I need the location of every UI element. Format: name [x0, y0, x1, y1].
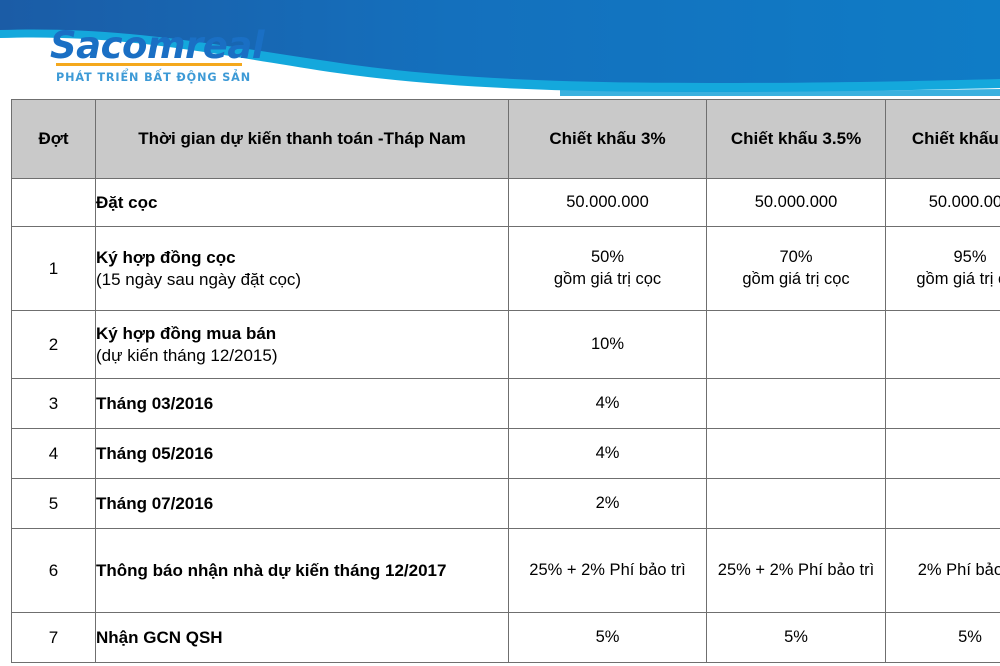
cell-discount-8: 2% Phí bảo trì	[886, 529, 1000, 613]
cell-stage-index: 7	[12, 613, 96, 663]
cell-stage-index: 3	[12, 379, 96, 429]
cell-discount-3: 25% + 2% Phí bảo trì	[509, 529, 707, 613]
cell-stage-index: 5	[12, 479, 96, 529]
description-main: Ký hợp đồng mua bán	[96, 323, 508, 345]
value-line-1: 95%	[953, 248, 986, 266]
cell-discount-35	[707, 479, 886, 529]
table-row: Đặt cọc 50.000.000 50.000.000 50.000.000	[12, 179, 1000, 227]
cell-discount-8	[886, 311, 1000, 379]
description-main: Nhận GCN QSH	[96, 627, 508, 649]
table-header-row: Đợt Thời gian dự kiến thanh toán -Tháp N…	[12, 100, 1000, 179]
cell-discount-3: 50.000.000	[509, 179, 707, 227]
logo-tagline: PHÁT TRIỂN BẤT ĐỘNG SẢN	[56, 71, 260, 85]
cell-discount-8: 5%	[886, 613, 1000, 663]
cell-discount-3: 50% gồm giá trị cọc	[509, 227, 707, 311]
description-main: Tháng 03/2016	[96, 393, 508, 415]
cell-discount-8	[886, 479, 1000, 529]
column-header-discount-3: Chiết khấu 3%	[509, 100, 707, 179]
value-line-2: gồm giá trị cọc	[886, 269, 1000, 290]
cell-stage-index	[12, 179, 96, 227]
cell-discount-3: 4%	[509, 429, 707, 479]
description-main: Thông báo nhận nhà dự kiến tháng 12/2017	[96, 560, 508, 582]
logo-wordmark: Sacomreal	[50, 26, 260, 66]
cell-stage-index: 1	[12, 227, 96, 311]
cell-description: Tháng 03/2016	[96, 379, 509, 429]
cell-discount-35: 70% gồm giá trị cọc	[707, 227, 886, 311]
column-header-discount-35: Chiết khấu 3.5%	[707, 100, 886, 179]
table-header: Đợt Thời gian dự kiến thanh toán -Tháp N…	[12, 100, 1000, 179]
cell-description: Tháng 07/2016	[96, 479, 509, 529]
payment-schedule-table-wrap: Đợt Thời gian dự kiến thanh toán -Tháp N…	[11, 99, 989, 663]
table-row: 1 Ký hợp đồng cọc (15 ngày sau ngày đặt …	[12, 227, 1000, 311]
cell-description: Đặt cọc	[96, 179, 509, 227]
cell-discount-8	[886, 379, 1000, 429]
cell-description: Tháng 05/2016	[96, 429, 509, 479]
description-sub: (dự kiến tháng 12/2015)	[96, 345, 508, 367]
description-main: Đặt cọc	[96, 192, 508, 214]
table-row: 6 Thông báo nhận nhà dự kiến tháng 12/20…	[12, 529, 1000, 613]
table-row: 2 Ký hợp đồng mua bán (dự kiến tháng 12/…	[12, 311, 1000, 379]
description-main: Ký hợp đồng cọc	[96, 247, 508, 269]
description-sub: (15 ngày sau ngày đặt cọc)	[96, 269, 508, 291]
description-main: Tháng 07/2016	[96, 493, 508, 515]
cell-discount-3: 5%	[509, 613, 707, 663]
cell-discount-35: 5%	[707, 613, 886, 663]
cell-discount-35	[707, 379, 886, 429]
cell-discount-8: 50.000.000	[886, 179, 1000, 227]
cell-discount-35	[707, 429, 886, 479]
value-line-1: 50%	[591, 248, 624, 266]
description-main: Tháng 05/2016	[96, 443, 508, 465]
payment-schedule-table: Đợt Thời gian dự kiến thanh toán -Tháp N…	[11, 99, 1000, 663]
cell-description: Nhận GCN QSH	[96, 613, 509, 663]
table-row: 7 Nhận GCN QSH 5% 5% 5%	[12, 613, 1000, 663]
cell-discount-3: 2%	[509, 479, 707, 529]
cell-discount-35	[707, 311, 886, 379]
cell-stage-index: 2	[12, 311, 96, 379]
value-line-2: gồm giá trị cọc	[509, 269, 706, 290]
cell-discount-35: 25% + 2% Phí bảo trì	[707, 529, 886, 613]
cell-discount-8	[886, 429, 1000, 479]
page-root: Sacomreal PHÁT TRIỂN BẤT ĐỘNG SẢN Đợt Th…	[0, 0, 1000, 666]
table-row: 3 Tháng 03/2016 4%	[12, 379, 1000, 429]
value-line-1: 70%	[779, 248, 812, 266]
brand-banner: Sacomreal PHÁT TRIỂN BẤT ĐỘNG SẢN	[0, 0, 1000, 96]
cell-stage-index: 6	[12, 529, 96, 613]
column-header-schedule: Thời gian dự kiến thanh toán -Tháp Nam	[96, 100, 509, 179]
value-line-2: gồm giá trị cọc	[707, 269, 885, 290]
table-row: 4 Tháng 05/2016 4%	[12, 429, 1000, 479]
cell-description: Ký hợp đồng mua bán (dự kiến tháng 12/20…	[96, 311, 509, 379]
column-header-dot: Đợt	[12, 100, 96, 179]
cell-description: Thông báo nhận nhà dự kiến tháng 12/2017	[96, 529, 509, 613]
cell-discount-35: 50.000.000	[707, 179, 886, 227]
cell-discount-3: 4%	[509, 379, 707, 429]
cell-description: Ký hợp đồng cọc (15 ngày sau ngày đặt cọ…	[96, 227, 509, 311]
cell-stage-index: 4	[12, 429, 96, 479]
logo: Sacomreal PHÁT TRIỂN BẤT ĐỘNG SẢN	[50, 26, 260, 88]
table-row: 5 Tháng 07/2016 2%	[12, 479, 1000, 529]
cell-discount-3: 10%	[509, 311, 707, 379]
cell-discount-8: 95% gồm giá trị cọc	[886, 227, 1000, 311]
column-header-discount-8: Chiết khấu 8%	[886, 100, 1000, 179]
table-body: Đặt cọc 50.000.000 50.000.000 50.000.000…	[12, 179, 1000, 663]
